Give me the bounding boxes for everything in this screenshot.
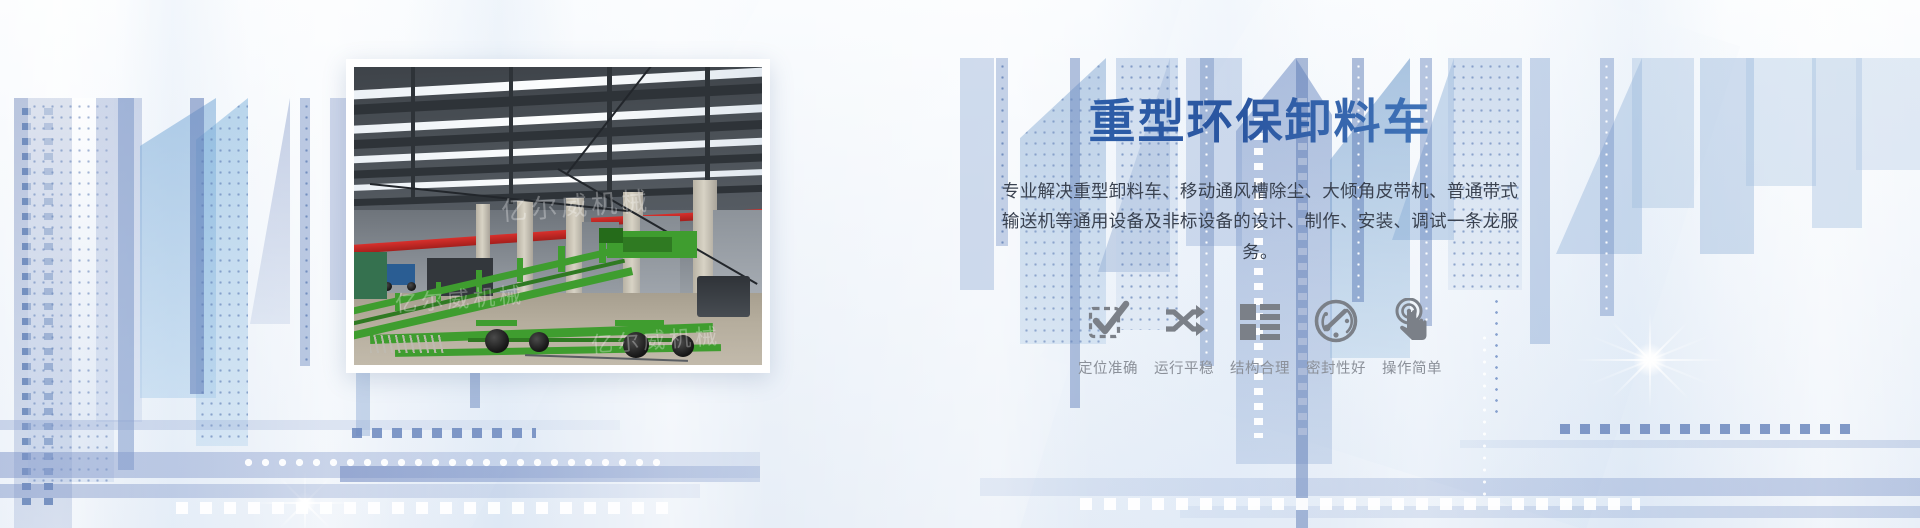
list-layout-icon — [1238, 294, 1282, 348]
ribbon-band-5 — [980, 478, 1920, 496]
feature-label: 定位准确 — [1078, 357, 1138, 378]
lens-flare-right — [1570, 280, 1730, 440]
dotted-square-row-bottom-left — [176, 502, 676, 514]
dotted-square-row-bottom-right — [1080, 498, 1640, 510]
background-streaks — [0, 0, 1920, 528]
page-title: 重型环保卸料车 — [1000, 96, 1520, 148]
ribbon-band-7 — [1460, 440, 1920, 448]
checkbox-dashed-icon — [1086, 294, 1130, 348]
feature-item-structure[interactable]: 结构合理 — [1222, 294, 1298, 378]
dotted-circle-row-left — [240, 458, 660, 467]
feature-item-easy-operation[interactable]: 操作简单 — [1374, 294, 1450, 378]
banner-content: 重型环保卸料车 专业解决重型卸料车、移动通风槽除尘、大倾角皮带机、普通带式输送机… — [1000, 96, 1520, 378]
product-banner: 亿尔威机械 亿尔威机械 亿尔威机械 重型环保卸料车 专业解决重型卸料车、移动通风… — [0, 0, 1920, 528]
feature-label: 运行平稳 — [1154, 357, 1214, 378]
banner-description: 专业解决重型卸料车、移动通风槽除尘、大倾角皮带机、普通带式输送机等通用设备及非标… — [1000, 176, 1520, 268]
feature-item-positioning[interactable]: 定位准确 — [1070, 294, 1146, 378]
tap-gesture-icon — [1390, 294, 1434, 348]
feature-label: 操作简单 — [1382, 357, 1442, 378]
feature-label: 结构合理 — [1230, 357, 1290, 378]
dotted-square-row-mid-left — [352, 428, 536, 438]
product-photo: 亿尔威机械 亿尔威机械 亿尔威机械 — [354, 67, 762, 365]
product-photo-card[interactable]: 亿尔威机械 亿尔威机械 亿尔威机械 — [346, 59, 770, 373]
feature-item-sealing[interactable]: 密封性好 — [1298, 294, 1374, 378]
gauge-seal-icon — [1313, 294, 1359, 348]
feature-list: 定位准确 运行平稳 — [1000, 294, 1520, 378]
shuffle-arrows-icon — [1162, 294, 1206, 348]
ribbon-band-2 — [0, 484, 700, 498]
dotted-square-row-mid-right — [1560, 424, 1860, 434]
feature-item-smooth-operation[interactable]: 运行平稳 — [1146, 294, 1222, 378]
feature-label: 密封性好 — [1306, 357, 1366, 378]
ribbon-band-4 — [340, 466, 760, 482]
